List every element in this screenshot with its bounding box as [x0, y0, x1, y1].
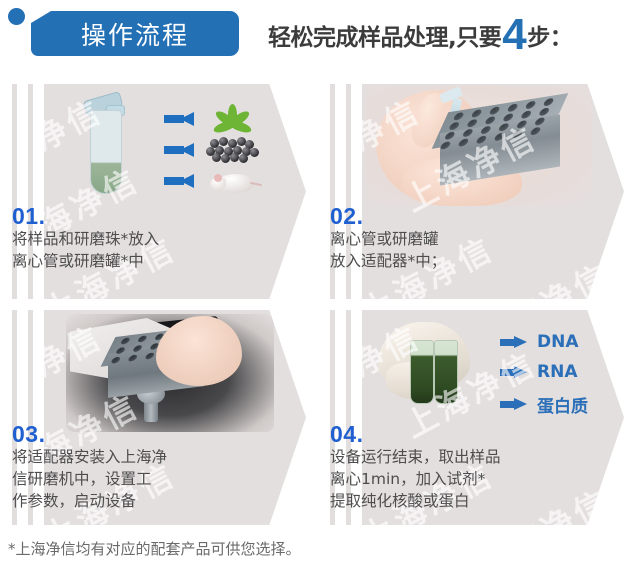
step-3-number: 03.	[12, 422, 232, 446]
page-header: 操作流程 轻松完成样品处理,只要4步：	[0, 0, 636, 78]
step-4-line-3: 提取纯化核酸或蛋白	[330, 490, 550, 512]
step-3-caption: 03. 将适配器安装入上海净 信研磨机中，设置工 作参数，启动设备	[12, 422, 232, 512]
arrow-right-icon	[500, 337, 530, 348]
step-2-line-2: 放入适配器*中；	[330, 250, 550, 272]
steps-grid: 上海净信上海净信上海净信上海净信上海净信 01. 将样品和研磨珠*放入 离心管或…	[0, 78, 636, 530]
output-label-text: RNA	[537, 362, 577, 382]
tagline-step-count: 4	[502, 17, 526, 52]
output-label-text: DNA	[537, 332, 579, 352]
step-4-line-2: 离心1min，加入试剂*	[330, 468, 550, 490]
lab-mouse-icon	[210, 168, 258, 194]
step-3-line-1: 将适配器安装入上海净	[12, 446, 232, 468]
step-4-line-1: 设备运行结束，取出样品	[330, 446, 550, 468]
step-1-number: 01.	[12, 204, 232, 228]
header-tagline: 轻松完成样品处理,只要4步：	[268, 13, 572, 57]
section-banner-title: 操作流程	[31, 11, 239, 56]
step-1-line-2: 离心管或研磨罐*中	[12, 250, 232, 272]
arrow-left-icon	[164, 174, 198, 187]
tagline-text-after: 步：	[527, 18, 572, 52]
step-1-illustration	[44, 84, 276, 206]
step-3-line-2: 信研磨机中，设置工	[12, 468, 232, 490]
output-label-rna: RNA	[500, 362, 577, 382]
step-1-line-1: 将样品和研磨珠*放入	[12, 228, 232, 250]
footer-note: *上海净信均有对应的配套产品可供您选择。	[8, 538, 628, 566]
step-card-3: 上海净信上海净信上海净信上海净信上海净信 03. 将适配器安装入上海净 信研磨机…	[0, 304, 318, 530]
step-card-2: 上海净信上海净信上海净信上海净信上海净信 02. 离心管或研磨罐 放入适配器*中…	[318, 78, 636, 304]
step-2-number: 02.	[330, 204, 550, 228]
grinding-beads-icon	[206, 136, 258, 162]
plant-leaf-icon	[212, 100, 252, 134]
output-label-text: 蛋白质	[537, 392, 588, 417]
step-4-number: 04.	[330, 422, 550, 446]
step-4-illustration: DNA RNA 蛋白质	[362, 310, 594, 432]
sample-vial-icon	[434, 340, 458, 404]
step-card-4: DNA RNA 蛋白质 上海净信上海净信上海净信上海净信上海净信 04	[318, 304, 636, 530]
arrow-left-icon	[164, 112, 198, 125]
output-label-dna: DNA	[500, 332, 579, 352]
step-3-line-3: 作参数，启动设备	[12, 490, 232, 512]
step-2-caption: 02. 离心管或研磨罐 放入适配器*中；	[330, 204, 550, 272]
arrow-right-icon	[500, 367, 530, 378]
tagline-text-before: 轻松完成样品处理,只要	[268, 18, 501, 52]
sample-vial-icon	[410, 340, 434, 404]
step-card-1: 上海净信上海净信上海净信上海净信上海净信 01. 将样品和研磨珠*放入 离心管或…	[0, 78, 318, 304]
step-3-illustration	[44, 310, 276, 432]
arrow-left-icon	[164, 143, 198, 156]
step-2-line-1: 离心管或研磨罐	[330, 228, 550, 250]
decorative-dot-icon	[8, 8, 25, 25]
step-4-caption: 04. 设备运行结束，取出样品 离心1min，加入试剂* 提取纯化核酸或蛋白	[330, 422, 550, 512]
step-1-caption: 01. 将样品和研磨珠*放入 离心管或研磨罐*中	[12, 204, 232, 272]
centrifuge-tube-icon	[90, 110, 122, 194]
step-2-illustration	[362, 84, 594, 206]
output-label-protein: 蛋白质	[500, 392, 588, 417]
arrow-right-icon	[500, 399, 530, 410]
